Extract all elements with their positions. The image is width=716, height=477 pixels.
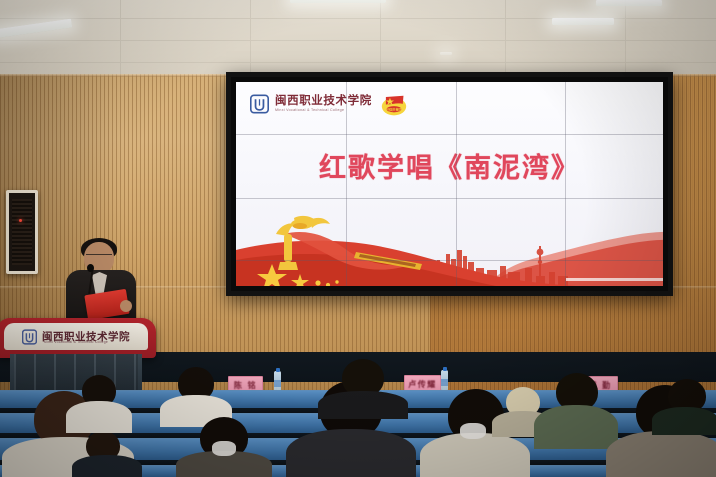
speaker-grill: [12, 199, 32, 265]
video-wall-display[interactable]: 闽西职业技术学院 Minxi Vocational & Technical Co…: [226, 72, 673, 296]
ceiling-light-2: [290, 0, 386, 3]
display-tile-seam-v2: [456, 82, 457, 286]
slide-org-name-en: Minxi Vocational & Technical College: [275, 109, 372, 113]
podium-org-name-en: Minxi Vocational & Technical College: [4, 340, 148, 344]
face-mask: [460, 423, 486, 439]
presenter: [62, 238, 140, 330]
display-tile-edge-highlight: [566, 278, 663, 281]
audience-shoulders: [66, 401, 132, 433]
audience-member: [66, 375, 132, 431]
svg-text:中国共青团: 中国共青团: [387, 107, 402, 112]
ceiling-light-3: [552, 18, 614, 25]
ceiling-light-4: [596, 0, 662, 6]
display-tile-seam-v3: [565, 82, 566, 286]
audience-shoulders: [420, 433, 530, 477]
display-tile-seam-h1: [236, 134, 663, 135]
audience-shoulders: [606, 431, 716, 477]
slide-title: 红歌学唱《南泥湾》: [236, 146, 663, 185]
podium-name-plate: 闽西职业技术学院 Minxi Vocational & Technical Co…: [4, 323, 148, 350]
audience-member: [318, 359, 408, 415]
display-tile-seam-v1: [346, 82, 347, 286]
slide-org-logo: 闽西职业技术学院 Minxi Vocational & Technical Co…: [250, 94, 372, 114]
display-tile-seam-h2: [236, 198, 663, 199]
audience-member: [176, 417, 272, 477]
slide-artwork: [236, 190, 663, 286]
wall-mounted-speaker: [6, 190, 38, 274]
lecture-hall-photo: 闽西职业技术学院 Minxi Vocational & Technical Co…: [0, 0, 716, 477]
ceiling-light-5: [440, 52, 452, 55]
display-tile-seam-h3: [236, 260, 663, 261]
audience-shoulders: [286, 429, 416, 477]
presenter-glasses: [86, 254, 112, 260]
communist-youth-league-emblem-icon: 中国共青团: [380, 93, 408, 116]
university-u-logo-icon: [250, 94, 269, 114]
audience-member: [72, 431, 142, 477]
display-screen: 闽西职业技术学院 Minxi Vocational & Technical Co…: [236, 82, 663, 286]
slide-org-names: 闽西职业技术学院 Minxi Vocational & Technical Co…: [275, 95, 372, 113]
presenter-hand: [120, 300, 132, 312]
face-mask: [212, 441, 236, 456]
audience-shoulders: [652, 407, 716, 435]
slide-org-name-cn: 闽西职业技术学院: [275, 95, 372, 107]
audience-member: [652, 379, 716, 431]
speaker-led-icon: [19, 219, 22, 222]
microphone-icon: [87, 264, 94, 272]
audience-shoulders: [72, 455, 142, 477]
audience-shoulders: [318, 391, 408, 419]
